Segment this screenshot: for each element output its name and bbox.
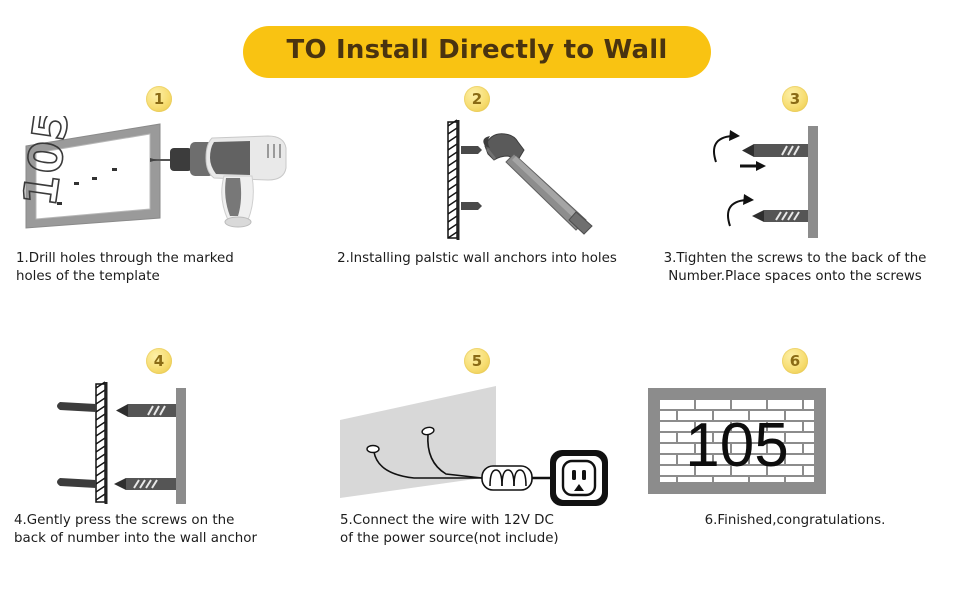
step-illustration-4 — [0, 378, 318, 506]
claw-hammer — [483, 134, 592, 234]
embedded-anchor-upper — [57, 402, 96, 412]
step-illustration-5 — [318, 378, 636, 506]
power-drill — [170, 136, 286, 227]
step-card-1: 1 105 — [0, 86, 318, 286]
instruction-sheet: TO Install Directly to Wall 1 105 — [0, 0, 954, 609]
screw-lower — [114, 478, 176, 490]
screw-upper — [116, 404, 176, 417]
step-badge-3: 3 — [782, 86, 808, 112]
number-back-plate — [808, 126, 818, 238]
wall-outlet — [550, 450, 608, 506]
step-card-3: 3 — [636, 86, 954, 286]
step-caption-2: 2.lnstalling palstic wall anchors into h… — [322, 250, 632, 268]
step-illustration-1: 105 — [0, 116, 318, 244]
screw-lower — [752, 210, 808, 222]
step-badge-2: 2 — [464, 86, 490, 112]
step-caption-4: 4.Gently press the screws on the back of… — [0, 512, 294, 548]
title-area: TO Install Directly to Wall — [0, 26, 954, 78]
page-title: TO Install Directly to Wall — [243, 26, 712, 78]
step-badge-1: 1 — [146, 86, 172, 112]
house-number-105: 105 — [685, 411, 788, 480]
step-card-6: 6 — [636, 348, 954, 548]
steps-row-bottom: 4 — [0, 348, 954, 548]
step-caption-3: 3.Tighten the screws to the back of the … — [645, 250, 945, 286]
wire-terminal-left — [367, 446, 379, 453]
step-illustration-2 — [318, 116, 636, 244]
step-illustration-3 — [636, 116, 954, 244]
wall-anchor-upper — [461, 146, 482, 154]
step-badge-6: 6 — [782, 348, 808, 374]
wall-anchor-lower — [461, 202, 482, 210]
embedded-anchor-lower — [57, 478, 96, 488]
step-badge-4: 4 — [146, 348, 172, 374]
wall-cross-section — [448, 120, 458, 240]
rotation-arrow-head-lower — [743, 194, 754, 205]
steps-row-top: 1 105 — [0, 86, 954, 286]
step-caption-5: 5.Connect the wire with 12V DC of the po… — [318, 512, 620, 548]
step-card-5: 5 — [318, 348, 636, 548]
rotation-arrow-head-upper — [729, 130, 740, 141]
wall-cross-section — [96, 382, 106, 504]
step-illustration-6: 105 — [636, 378, 954, 506]
screw-upper — [742, 144, 808, 157]
step-card-2: 2 — [318, 86, 636, 286]
number-back-plate — [176, 388, 186, 504]
step-card-4: 4 — [0, 348, 318, 548]
step-badge-5: 5 — [464, 348, 490, 374]
sign-back-panel — [340, 386, 496, 498]
step-caption-1: 1.Drill holes through the marked holes o… — [0, 250, 286, 286]
step-caption-6: 6.Finished,congratulations. — [645, 512, 945, 530]
push-arrow — [740, 161, 766, 171]
transformer — [482, 466, 532, 490]
